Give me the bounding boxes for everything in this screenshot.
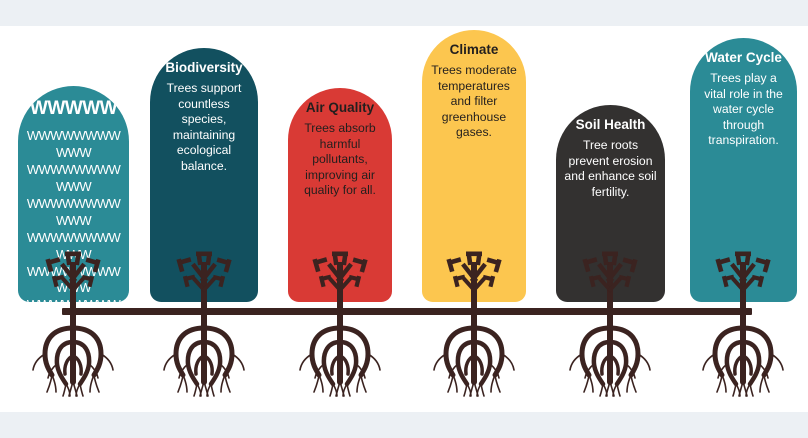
top-band xyxy=(0,0,808,26)
card-soil-health[interactable]: Soil Health Tree roots prevent erosion a… xyxy=(556,105,665,302)
bottom-band xyxy=(0,412,808,438)
card-title: Soil Health xyxy=(564,117,657,133)
card-body: Trees support countless species, maintai… xyxy=(158,81,250,175)
tree-roots-icon-2 xyxy=(156,312,252,403)
card-body: Trees moderate temperatures and filter g… xyxy=(430,63,518,141)
card-title: WWWWW xyxy=(26,98,121,120)
card-filler[interactable]: WWWWW WWWWWWWWWWW WWWWWWWWWWW WWWWWWWWWW… xyxy=(18,86,129,302)
card-body: Trees play a vital role in the water cyc… xyxy=(698,71,789,149)
card-title: Air Quality xyxy=(296,100,384,116)
tree-roots-icon-4 xyxy=(426,312,522,403)
card-biodiversity[interactable]: Biodiversity Trees support countless spe… xyxy=(150,48,258,302)
tree-roots-icon-6 xyxy=(695,312,791,403)
card-air-quality[interactable]: Air Quality Trees absorb harmful polluta… xyxy=(288,88,392,302)
tree-roots-icon-5 xyxy=(562,312,658,403)
tree-roots-icon-1 xyxy=(25,312,121,403)
infographic-canvas: WWWWW WWWWWWWWWWW WWWWWWWWWWW WWWWWWWWWW… xyxy=(0,0,808,438)
card-climate[interactable]: Climate Trees moderate temperatures and … xyxy=(422,30,526,302)
card-body: Tree roots prevent erosion and enhance s… xyxy=(564,138,657,200)
card-title: Biodiversity xyxy=(158,60,250,76)
card-water-cycle[interactable]: Water Cycle Trees play a vital role in t… xyxy=(690,38,797,302)
card-body: WWWWWWWWWWW WWWWWWWWWWW WWWWWWWWWWW WWWW… xyxy=(26,128,121,302)
trunk-baseline xyxy=(62,308,752,315)
card-title: Climate xyxy=(430,42,518,58)
card-body: Trees absorb harmful pollutants, improvi… xyxy=(296,121,384,199)
tree-roots-icon-3 xyxy=(292,312,388,403)
card-title: Water Cycle xyxy=(698,50,789,66)
